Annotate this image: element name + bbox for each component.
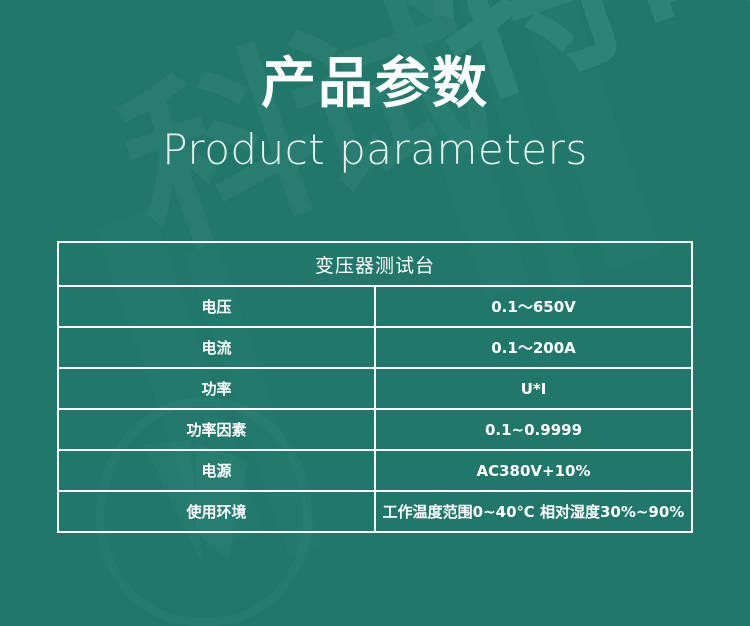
spec-value-power-supply: AC380V+10% <box>375 450 692 491</box>
table-row: 功率因素 0.1~0.9999 <box>58 409 692 450</box>
spec-table-container: 变压器测试台 电压 0.1～650V 电流 0.1～200A 功率 U*I 功率… <box>57 241 693 533</box>
spec-label-power-supply: 电源 <box>58 450 375 491</box>
spec-table-body: 电压 0.1～650V 电流 0.1～200A 功率 U*I 功率因素 0.1~… <box>58 286 692 532</box>
heading-block: 产品参数 Product parameters <box>0 0 750 174</box>
table-row: 功率 U*I <box>58 368 692 409</box>
table-row: 使用环境 工作温度范围0~40℃ 相对湿度30%~90% <box>58 491 692 532</box>
spec-table-caption: 变压器测试台 <box>58 242 692 286</box>
spec-label-voltage: 电压 <box>58 286 375 327</box>
page-title: 产品参数 <box>0 50 750 116</box>
spec-label-power-factor: 功率因素 <box>58 409 375 450</box>
spec-label-environment: 使用环境 <box>58 491 375 532</box>
spec-value-power: U*I <box>375 368 692 409</box>
product-parameters-page: 特司 科试 产品参数 Product parameters 变压器测试台 电压 … <box>0 0 750 626</box>
table-row: 电源 AC380V+10% <box>58 450 692 491</box>
spec-table-caption-row: 变压器测试台 <box>58 242 692 286</box>
table-row: 电压 0.1～650V <box>58 286 692 327</box>
spec-value-environment: 工作温度范围0~40℃ 相对湿度30%~90% <box>375 491 692 532</box>
spec-table-head: 变压器测试台 <box>58 242 692 286</box>
spec-label-current: 电流 <box>58 327 375 368</box>
spec-value-voltage: 0.1～650V <box>375 286 692 327</box>
spec-label-power: 功率 <box>58 368 375 409</box>
spec-value-power-factor: 0.1~0.9999 <box>375 409 692 450</box>
page-subtitle: Product parameters <box>0 126 750 174</box>
spec-table: 变压器测试台 电压 0.1～650V 电流 0.1～200A 功率 U*I 功率… <box>57 241 693 533</box>
spec-value-current: 0.1～200A <box>375 327 692 368</box>
table-row: 电流 0.1～200A <box>58 327 692 368</box>
